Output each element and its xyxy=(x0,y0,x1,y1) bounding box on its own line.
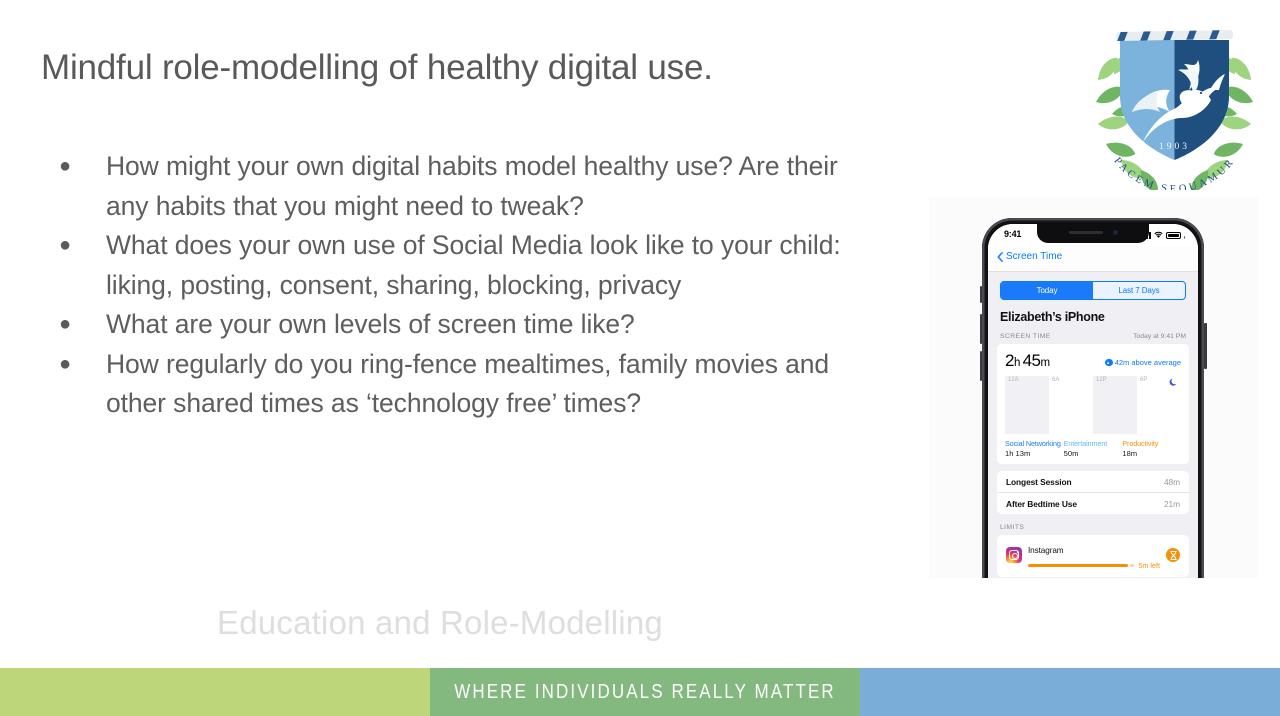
footer-bands: WHERE INDIVIDUALS REALLY MATTER xyxy=(0,668,1280,716)
limit-progress-bar xyxy=(1028,564,1128,566)
battery-tip-icon xyxy=(1184,236,1185,239)
volume-down-button xyxy=(980,351,983,381)
iphone-device-frame: 9:41 Screen xyxy=(982,218,1204,578)
chart-tick-12a: 12A xyxy=(1008,377,1019,383)
limit-app-name: Instagram xyxy=(1028,546,1064,555)
front-camera-icon xyxy=(1113,230,1118,235)
legend-entertainment-value: 50m xyxy=(1064,449,1123,458)
bullet-text: How might your own digital habits model … xyxy=(106,147,882,226)
page-title: Mindful role-modelling of healthy digita… xyxy=(41,48,941,88)
limits-section-label: LIMITS xyxy=(1000,524,1186,531)
chart-bar-column xyxy=(1056,384,1063,434)
power-button xyxy=(1204,323,1207,369)
stat-label-after-bedtime-use: After Bedtime Use xyxy=(1006,499,1077,509)
legend-social-networking: Social Networking 1h 13m xyxy=(1005,439,1064,458)
stat-value-after-bedtime-use: 21m xyxy=(1164,499,1180,509)
section-label: SCREEN TIME xyxy=(1000,333,1051,340)
hourglass-icon[interactable] xyxy=(1166,548,1180,562)
total-row: 2h 45m 42m above average xyxy=(1005,351,1181,371)
chart-bar-column xyxy=(1020,384,1027,434)
bullet-item: ●What are your own levels of screen time… xyxy=(52,305,882,345)
usage-bar-chart[interactable]: 12A 6A 12P 6P xyxy=(1005,376,1181,434)
stat-row-longest-session[interactable]: Longest Session 48m xyxy=(997,471,1189,492)
section-timestamp: Today at 9:41 PM xyxy=(1133,333,1186,340)
above-average-note: 42m above average xyxy=(1105,358,1181,367)
stat-label-longest-session: Longest Session xyxy=(1006,477,1072,487)
limit-row-instagram[interactable]: Instagram 5m left xyxy=(1006,540,1180,570)
wifi-icon xyxy=(1154,231,1163,239)
chart-bar-column xyxy=(1100,384,1107,434)
chart-bar-column xyxy=(1166,384,1173,434)
bullet-text: What does your own use of Social Media l… xyxy=(106,226,882,305)
chart-bar-column xyxy=(1144,384,1151,434)
back-button[interactable]: Screen Time xyxy=(997,251,1062,262)
period-segmented-control[interactable]: Today Last 7 Days xyxy=(1000,281,1186,300)
chevron-left-icon xyxy=(997,252,1003,262)
bullet-marker-icon: ● xyxy=(52,345,106,385)
volume-up-button xyxy=(980,314,983,344)
iphone-screen: 9:41 Screen xyxy=(988,224,1198,578)
chart-bar-column xyxy=(1012,384,1019,434)
legend-productivity-value: 18m xyxy=(1122,449,1181,458)
legend-entertainment: Entertainment 50m xyxy=(1064,439,1123,458)
silent-switch xyxy=(980,286,983,303)
chart-tick-12p: 12P xyxy=(1096,377,1107,383)
earpiece-speaker-icon xyxy=(1069,231,1103,234)
slide-subtitle-watermark: Education and Role-Modelling xyxy=(0,604,880,642)
logo-motto-path: PACEM SEQUAMUR xyxy=(1111,156,1237,190)
stat-value-longest-session: 48m xyxy=(1164,477,1180,487)
status-time: 9:41 xyxy=(1004,229,1021,239)
instagram-icon xyxy=(1006,547,1022,563)
chart-bar-column xyxy=(1064,384,1071,434)
total-screen-time: 2h 45m xyxy=(1005,351,1050,371)
stat-row-after-bedtime-use[interactable]: After Bedtime Use 21m xyxy=(997,492,1189,514)
total-hours-unit: h xyxy=(1014,357,1023,369)
chart-bar-column xyxy=(1027,384,1034,434)
screen-time-content: Today Last 7 Days Elizabeth’s iPhone SCR… xyxy=(988,271,1198,578)
logo-motto: PACEM SEQUAMUR xyxy=(1111,156,1237,190)
segment-last-7-days[interactable]: Last 7 Days xyxy=(1093,282,1185,299)
chart-tick-6a: 6A xyxy=(1052,377,1059,383)
bullet-item: ●What does your own use of Social Media … xyxy=(52,226,882,305)
legend-productivity: Productivity 18m xyxy=(1122,439,1181,458)
chart-bar-column xyxy=(1071,384,1078,434)
school-logo: 1903 PACEM SEQUAMUR xyxy=(1092,18,1257,190)
chart-bar-column xyxy=(1086,384,1093,434)
app-limits-card[interactable]: Instagram 5m left xyxy=(997,535,1189,577)
footer-band-center: WHERE INDIVIDUALS REALLY MATTER xyxy=(430,668,860,716)
chart-bar-column xyxy=(1005,384,1012,434)
chart-tick-6p: 6P xyxy=(1140,377,1147,383)
notch xyxy=(1037,224,1149,243)
chart-bar-column xyxy=(1042,384,1049,434)
screen-time-stats-card: Longest Session 48m After Bedtime Use 21… xyxy=(997,471,1189,514)
bullet-marker-icon: ● xyxy=(52,305,106,345)
legend-productivity-name: Productivity xyxy=(1122,439,1181,448)
bullet-item: ●How might your own digital habits model… xyxy=(52,147,882,226)
logo-year: 1903 xyxy=(1159,142,1190,152)
arrow-up-icon xyxy=(1105,359,1113,367)
chart-bar-column xyxy=(1130,384,1137,434)
footer-band-right xyxy=(860,668,1280,716)
footer-tagline: WHERE INDIVIDUALS REALLY MATTER xyxy=(454,680,836,704)
chart-bar-column xyxy=(1049,384,1056,434)
bullet-item: ●How regularly do you ring-fence mealtim… xyxy=(52,345,882,424)
device-name: Elizabeth’s iPhone xyxy=(1000,310,1186,324)
bullet-marker-icon: ● xyxy=(52,226,106,266)
chart-bar-column xyxy=(1078,384,1085,434)
total-hours: 2 xyxy=(1005,351,1014,370)
chart-bar-column xyxy=(1122,384,1129,434)
screen-time-chart-card[interactable]: 2h 45m 42m above average 12A xyxy=(997,344,1189,464)
battery-icon xyxy=(1166,232,1181,240)
screen-time-screenshot-panel: 9:41 Screen xyxy=(929,197,1258,578)
total-minutes-unit: m xyxy=(1040,357,1049,369)
chart-bar-column xyxy=(1152,384,1159,434)
footer-band-left xyxy=(0,668,430,716)
shield-banner xyxy=(1116,30,1233,41)
chart-bars xyxy=(1005,384,1181,434)
segment-today[interactable]: Today xyxy=(1001,282,1093,299)
limit-progress-row: 5m left xyxy=(1028,561,1160,570)
limit-details: Instagram 5m left xyxy=(1028,540,1160,570)
back-button-label: Screen Time xyxy=(1006,251,1062,262)
chart-bar-column xyxy=(1034,384,1041,434)
bullet-text: What are your own levels of screen time … xyxy=(106,305,882,345)
chart-bar-column xyxy=(1159,384,1166,434)
chart-legend: Social Networking 1h 13m Entertainment 5… xyxy=(1005,439,1181,458)
chart-bar-column xyxy=(1174,384,1181,434)
legend-entertainment-name: Entertainment xyxy=(1064,439,1123,448)
legend-social-networking-value: 1h 13m xyxy=(1005,449,1064,458)
ios-nav-bar: Screen Time xyxy=(988,246,1198,272)
bullet-text: How regularly do you ring-fence mealtime… xyxy=(106,345,882,424)
total-minutes: 45 xyxy=(1023,351,1041,370)
chart-bar-column xyxy=(1137,384,1144,434)
screen-time-section-header: SCREEN TIME Today at 9:41 PM xyxy=(1000,333,1186,340)
bullet-list: ●How might your own digital habits model… xyxy=(52,147,882,424)
limit-remaining-label: 5m left xyxy=(1131,561,1160,570)
bullet-marker-icon: ● xyxy=(52,147,106,187)
legend-social-networking-name: Social Networking xyxy=(1005,439,1064,448)
above-average-label: 42m above average xyxy=(1115,358,1181,367)
chart-bar-column xyxy=(1115,384,1122,434)
chart-bar-column xyxy=(1108,384,1115,434)
chart-bar-column xyxy=(1093,384,1100,434)
